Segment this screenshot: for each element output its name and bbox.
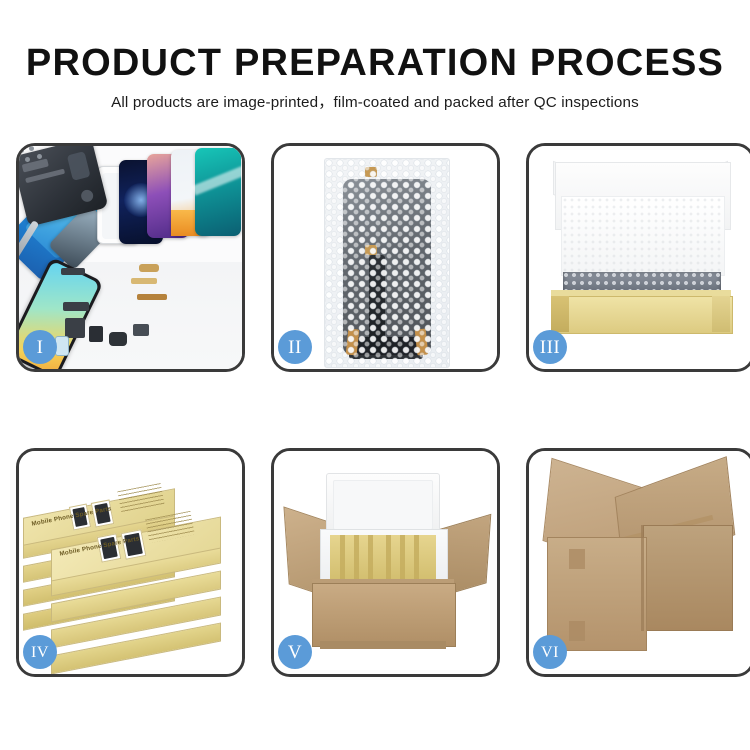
- foam-liner: [561, 196, 725, 276]
- header: PRODUCT PREPARATION PROCESS All products…: [0, 0, 750, 112]
- step-badge-6: VI: [533, 635, 567, 669]
- spare-part-icon: [65, 318, 85, 338]
- retail-boxes-inside: [330, 535, 436, 579]
- process-step-grid: I II: [16, 143, 735, 677]
- step-badge-2: II: [278, 330, 312, 364]
- bubble-texture: [325, 159, 449, 367]
- page-subtitle: All products are image-printed，film-coat…: [0, 84, 750, 112]
- process-step-6-sealed-shipping-carton: VI: [526, 448, 750, 677]
- foam-lid-open: [326, 473, 440, 537]
- page-title: PRODUCT PREPARATION PROCESS: [0, 0, 750, 84]
- carton-bottom-edge: [320, 641, 446, 649]
- step-badge-1: I: [23, 330, 57, 364]
- step-badge-4: IV: [23, 635, 57, 669]
- box-side-right: [712, 296, 730, 332]
- speaker-part-icon: [109, 332, 127, 346]
- bubble-wrap-bag: [324, 158, 450, 368]
- spare-part-icon: [89, 326, 103, 342]
- process-step-2-bubble-wrapped-screen: II: [271, 143, 500, 372]
- process-step-4-stacked-retail-boxes: Mobile Phone Spare Parts Mobile Phone Sp…: [16, 448, 245, 677]
- process-step-5-carton-with-foam-liner: V: [271, 448, 500, 677]
- step-badge-3: III: [533, 330, 567, 364]
- step-badge-5: V: [278, 635, 312, 669]
- process-step-1-phones-and-spare-parts: I: [16, 143, 245, 372]
- carton-front-panel: [312, 583, 456, 647]
- tape-patch-lower: [569, 621, 585, 641]
- flex-cable-icon: [137, 294, 167, 300]
- product-preparation-infographic: PRODUCT PREPARATION PROCESS All products…: [0, 0, 750, 750]
- spare-part-icon: [139, 264, 159, 272]
- box-side-left: [551, 296, 569, 332]
- sim-tray-icon: [55, 336, 69, 356]
- foam-texture: [562, 197, 724, 275]
- carton-front-face: [547, 537, 647, 651]
- spare-part-icon: [61, 268, 85, 275]
- flex-cable-icon: [131, 278, 157, 284]
- carton-vertical-edge: [641, 525, 644, 631]
- box-front-panel: [551, 296, 733, 334]
- carton-side-face: [643, 525, 733, 631]
- phone-teal-icon: [195, 148, 241, 236]
- spare-part-icon: [63, 302, 89, 311]
- process-step-3-open-kraft-box-with-foam: III: [526, 143, 750, 372]
- tape-patch-upper: [569, 549, 585, 569]
- spare-part-icon: [133, 324, 149, 336]
